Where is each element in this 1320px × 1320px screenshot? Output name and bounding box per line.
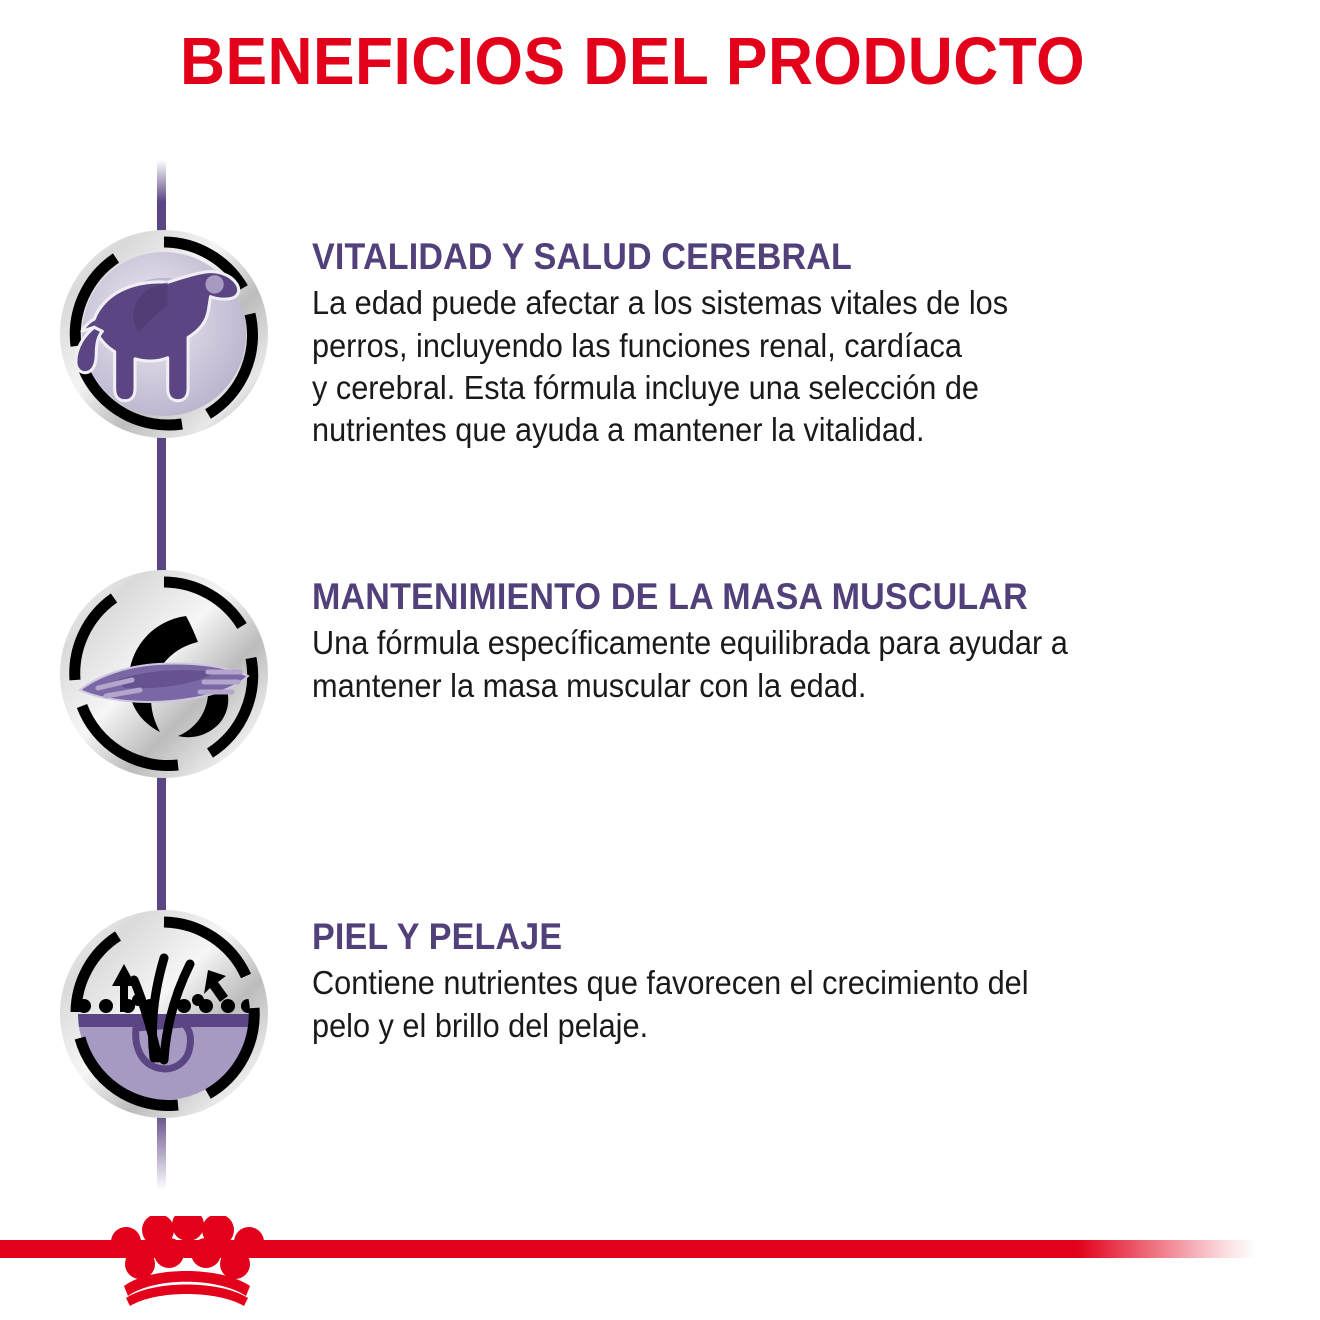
royal-canin-crown-logo xyxy=(96,1216,276,1308)
footer-bar-right xyxy=(247,1240,1320,1258)
benefit-text-block: MANTENIMIENTO DE LA MASA MUSCULAR Una fó… xyxy=(312,578,1297,707)
benefit-body: Contiene nutrientes que favorecen el cre… xyxy=(312,962,1228,1046)
benefit-heading: PIEL Y PELAJE xyxy=(312,918,1218,956)
benefit-body: La edad puede afectar a los sistemas vit… xyxy=(312,282,1228,451)
benefit-body: Una fórmula específicamente equilibrada … xyxy=(312,622,1228,706)
benefit-heading: MANTENIMIENTO DE LA MASA MUSCULAR xyxy=(312,578,1218,616)
benefit-text-block: VITALIDAD Y SALUD CEREBRAL La edad puede… xyxy=(312,238,1297,451)
benefit-text-block: PIEL Y PELAJE Contiene nutrientes que fa… xyxy=(312,918,1297,1047)
dog-vitality-icon xyxy=(58,228,270,440)
skin-coat-icon xyxy=(58,908,270,1120)
page-title: BENEFICIOS DEL PRODUCTO xyxy=(180,28,1085,95)
benefit-heading: VITALIDAD Y SALUD CEREBRAL xyxy=(312,238,1218,276)
muscle-mass-icon xyxy=(58,568,270,780)
